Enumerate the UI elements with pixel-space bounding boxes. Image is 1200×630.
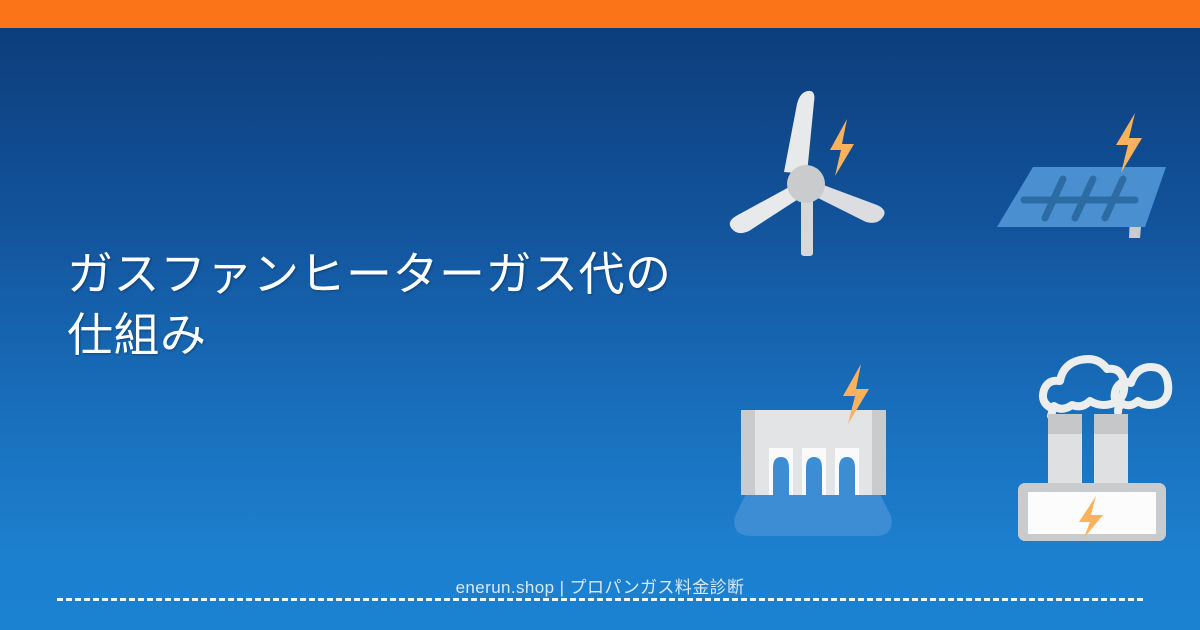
share-card: ガスファンヒーターガス代の 仕組み xyxy=(0,0,1200,630)
accent-bar xyxy=(0,0,1200,28)
footer-branding: enerun.shop | プロパンガス料金診断 xyxy=(0,573,1200,598)
solar-panel-icon xyxy=(985,105,1170,255)
wind-turbine-icon xyxy=(722,88,892,260)
footer-divider xyxy=(57,598,1143,601)
hydro-dam-icon xyxy=(727,358,899,540)
page-title: ガスファンヒーターガス代の 仕組み xyxy=(67,244,767,365)
power-plant-icon xyxy=(1010,336,1175,544)
